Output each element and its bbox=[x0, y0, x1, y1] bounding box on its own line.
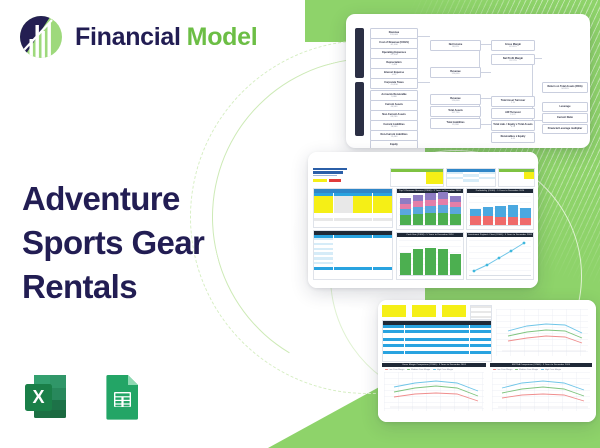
tree-node: Revenue120,000 bbox=[430, 94, 481, 105]
bar-column bbox=[508, 205, 519, 225]
tree-node: Total Liab. / Equity x Total Assets0.29 bbox=[491, 120, 535, 131]
key-financials-table bbox=[313, 230, 393, 280]
dashboard-company-header bbox=[313, 168, 357, 180]
bar-column bbox=[425, 248, 436, 275]
investment-payback-chart: Investment Payback Chart (€/000) - 5 Yea… bbox=[466, 232, 534, 280]
file-format-icons: X bbox=[20, 370, 149, 423]
financial-dashboard-preview[interactable]: Top 5 Revenue Streams (€/000) - 5 Years … bbox=[308, 152, 538, 288]
revenue-streams-chart: Top 5 Revenue Streams (€/000) - 5 Years … bbox=[396, 188, 464, 230]
chart-title: Cash flow (€/000) - 5 Years to December … bbox=[397, 233, 463, 237]
tree-node: Current Ratio bbox=[542, 113, 588, 123]
scenario-summary-block bbox=[470, 305, 492, 320]
chart-title: Profitability (€/000) - 5 Years to Decem… bbox=[467, 189, 533, 193]
bar-column bbox=[495, 206, 506, 225]
tree-connector bbox=[416, 82, 430, 83]
revenue-comparison-chart bbox=[494, 305, 590, 360]
dashboard-assumptions-block bbox=[390, 168, 444, 187]
tree-node: A/R Turnover13.22 bbox=[491, 108, 535, 119]
ebitda-comparison-chart: EBITDA Comparison (€/000) - 5 Years to D… bbox=[490, 363, 592, 415]
bar-column bbox=[450, 196, 461, 225]
scenario-inputs-block bbox=[382, 305, 466, 318]
google-sheets-icon[interactable] bbox=[96, 370, 149, 423]
bar-column bbox=[413, 195, 424, 225]
tree-node: Total Liabilities31,300 bbox=[430, 118, 481, 129]
gross-margin-comparison-chart: Gross Margin Comparison (€/000) - 5 Year… bbox=[382, 363, 486, 415]
page-title: Adventure Sports Gear Rentals bbox=[22, 177, 272, 309]
projections-table bbox=[382, 320, 492, 362]
bar-column bbox=[413, 249, 424, 275]
cash-flow-chart: Cash flow (€/000) - 5 Years to December … bbox=[396, 232, 464, 280]
dashboard-body: Top 5 Revenue Streams (€/000) - 5 Years … bbox=[308, 152, 538, 288]
tree-node: Net Profit Margin31.17% bbox=[491, 54, 535, 65]
dashboard-ratios-block bbox=[446, 168, 496, 187]
bar-column bbox=[425, 193, 436, 225]
tree-node: Return on Total Assets (ROA)34.65% bbox=[542, 82, 588, 93]
tree-node: Revenue120,000 bbox=[430, 67, 481, 78]
bar-column bbox=[438, 249, 449, 275]
tree-node: Net Income38,015 bbox=[430, 40, 481, 51]
bar-column bbox=[400, 253, 411, 275]
bar-column bbox=[520, 208, 531, 225]
bar-column bbox=[470, 209, 481, 225]
projections-charts-preview[interactable]: Gross Margin Comparison (€/000) - 5 Year… bbox=[378, 300, 596, 422]
projections-body: Gross Margin Comparison (€/000) - 5 Year… bbox=[378, 300, 596, 422]
bar-column bbox=[438, 192, 449, 225]
bar-column bbox=[400, 198, 411, 225]
tree-diagram: Revenue120,000 Cost of Revenue (COGS)-41… bbox=[346, 14, 590, 148]
brand-lockup: FinancialModel bbox=[18, 14, 257, 60]
tree-node: Corporate Taxes-10,530 bbox=[370, 78, 418, 89]
rail-balance-sheet bbox=[355, 82, 364, 136]
tree-node: Leverage bbox=[542, 102, 588, 112]
tree-node: Equity bbox=[370, 140, 418, 148]
circle-bar-chart-logo-icon bbox=[18, 14, 64, 60]
tree-node: Total Asset Turnover1.11 bbox=[491, 96, 535, 107]
svg-text:X: X bbox=[32, 387, 44, 407]
dashboard-kpi-block bbox=[498, 168, 535, 187]
tree-node: Receivables x Equity0.41 bbox=[491, 132, 535, 143]
tree-connector bbox=[416, 36, 430, 37]
poster-canvas: FinancialModel Adventure Sports Gear Ren… bbox=[0, 0, 600, 448]
brand-word-model: Model bbox=[187, 23, 258, 51]
tree-node: Total Assets107,700 bbox=[430, 106, 481, 117]
tree-node: Financial Leverage multiplier bbox=[542, 124, 588, 134]
brand-name: FinancialModel bbox=[75, 25, 257, 50]
bar-column bbox=[483, 207, 494, 225]
tree-node: Gross Margin62.05% bbox=[491, 40, 535, 51]
rail-income-statement bbox=[355, 28, 364, 78]
core-inputs-table bbox=[313, 188, 393, 228]
profitability-chart: Profitability (€/000) - 5 Years to Decem… bbox=[466, 188, 534, 230]
bar-column bbox=[450, 254, 461, 275]
microsoft-excel-icon[interactable]: X bbox=[20, 370, 73, 423]
dupont-tree-preview[interactable]: Revenue120,000 Cost of Revenue (COGS)-41… bbox=[346, 14, 590, 148]
brand-word-financial: Financial bbox=[75, 23, 181, 51]
